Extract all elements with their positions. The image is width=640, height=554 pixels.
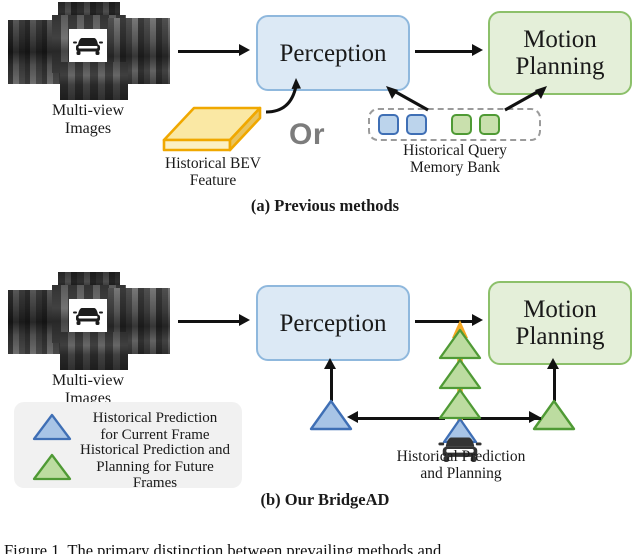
arrow-images-to-perception-a: [178, 50, 240, 53]
arrow-perception-to-planning-a: [415, 50, 473, 53]
or-label: Or: [289, 118, 325, 152]
panel-a-label-text: (a) Previous methods: [251, 196, 399, 215]
planning-label-b-line2: Planning: [516, 323, 605, 350]
arrowhead-perception-to-planning-a: [472, 44, 483, 56]
multiview-caption-a: Multi-view Images: [22, 102, 154, 138]
perception-label-a: Perception: [280, 40, 387, 67]
arrowhead-marker-to-perception: [324, 358, 336, 369]
trajectory-caption-line2: and Planning: [375, 465, 547, 482]
trajectory-caption-line1: Historical Prediction: [375, 448, 547, 465]
panel-a: Multi-view Images Perception Motion Plan…: [0, 0, 640, 220]
car-icon: [72, 304, 104, 328]
perception-label-b: Perception: [280, 310, 387, 337]
query-cell-blue-1: [378, 114, 399, 135]
legend-marker-blue: [30, 412, 74, 442]
legend-label-1-line2: Planning for Future Frames: [74, 459, 236, 493]
planning-box-b: Motion Planning: [488, 281, 632, 365]
arrow-marker-to-perception: [330, 366, 333, 401]
arrowhead-traj-to-blue-marker: [347, 411, 358, 423]
planning-box-a: Motion Planning: [488, 11, 632, 95]
car-icon: [72, 34, 104, 58]
legend-label-1-line1: Historical Prediction and: [74, 442, 236, 459]
legend-label-0-line1: Historical Prediction: [74, 410, 236, 427]
bev-caption-line2: Feature: [146, 172, 280, 189]
planning-label-b-line1: Motion: [516, 296, 605, 323]
legend-item-1: Historical Prediction and Planning for F…: [22, 446, 236, 488]
bev-caption: Historical BEV Feature: [146, 155, 280, 190]
panel-b-label: (b) Our BridgeAD: [180, 490, 470, 510]
query-cell-green-1: [451, 114, 472, 135]
memory-bank-caption: Historical Query Memory Bank: [379, 142, 531, 177]
bev-slab-icon: [160, 100, 264, 156]
or-text: Or: [289, 118, 325, 151]
multiview-caption-a-line2: Images: [22, 120, 154, 138]
multiview-images-b: [8, 272, 168, 372]
figure-caption: Figure 1. The primary distinction betwee…: [4, 543, 636, 554]
legend-label-1: Historical Prediction and Planning for F…: [74, 442, 236, 492]
view-tile-bottom: [60, 332, 128, 370]
panel-b-label-text: (b) Our BridgeAD: [261, 490, 390, 509]
bev-feature-icon: [160, 100, 264, 156]
perception-box-b: Perception: [256, 285, 410, 361]
figure-root: Multi-view Images Perception Motion Plan…: [0, 0, 640, 554]
arrow-bank-to-perception: [384, 84, 434, 112]
legend-label-0: Historical Prediction for Current Frame: [74, 410, 236, 444]
query-cell-green-2: [479, 114, 500, 135]
trajectory-stack: [425, 318, 495, 443]
arrow-images-to-perception-b: [178, 320, 240, 323]
trajectory-caption: Historical Prediction and Planning: [375, 448, 547, 483]
arrowhead-images-to-perception-a: [239, 44, 250, 56]
multiview-caption-a-line1: Multi-view: [22, 102, 154, 120]
panel-a-label: (a) Previous methods: [180, 196, 470, 216]
arrow-marker-to-planning: [553, 366, 556, 401]
planning-label-a-line1: Motion: [516, 26, 605, 53]
ego-car-chip-a: [69, 29, 107, 62]
query-cell-blue-2: [406, 114, 427, 135]
bev-caption-line1: Historical BEV: [146, 155, 280, 172]
ego-car-chip-b: [69, 299, 107, 332]
memory-bank-caption-line2: Memory Bank: [379, 159, 531, 176]
multiview-images-a: [8, 2, 168, 102]
view-tile-bottom: [60, 62, 128, 100]
panel-b: Multi-view Images Perception Motion Plan…: [0, 250, 640, 520]
arrowhead-marker-to-planning: [547, 358, 559, 369]
arrowhead-traj-to-green-marker: [529, 411, 540, 423]
planning-label-a-line2: Planning: [516, 53, 605, 80]
multiview-caption-b-line1: Multi-view: [22, 372, 154, 390]
memory-bank: [368, 108, 541, 141]
arrow-bev-to-perception: [262, 76, 322, 116]
memory-bank-caption-line1: Historical Query: [379, 142, 531, 159]
arrowhead-images-to-perception-b: [239, 314, 250, 326]
legend-marker-green: [30, 452, 74, 482]
figure-caption-text: Figure 1. The primary distinction betwee…: [4, 543, 441, 554]
arrow-bank-to-planning: [499, 84, 549, 112]
